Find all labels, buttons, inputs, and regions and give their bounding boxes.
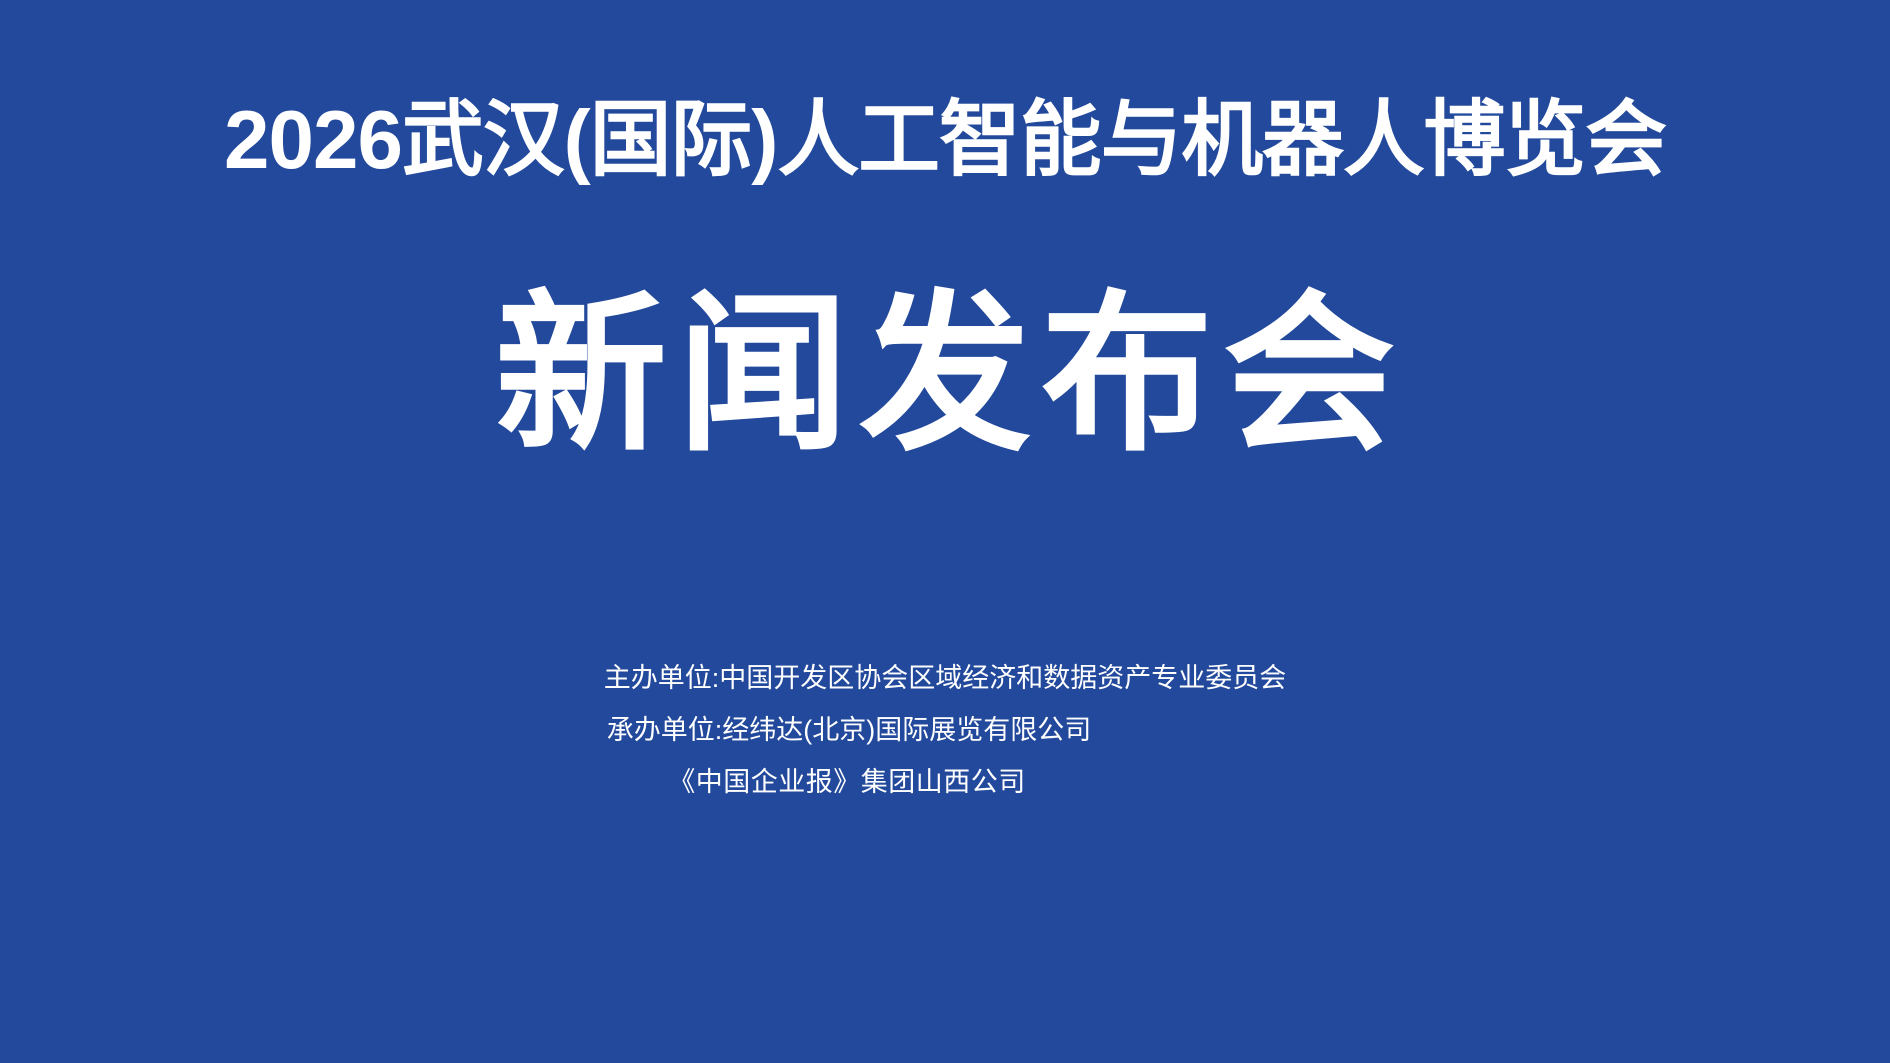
credits-block: 主办单位:中国开发区协会区域经济和数据资产专业委员会 承办单位:经纬达(北京)国… (0, 652, 1890, 808)
event-title: 2026武汉(国际)人工智能与机器人博览会 (14, 96, 1876, 184)
press-conference-poster: 2026武汉(国际)人工智能与机器人博览会 新闻发布会 主办单位:中国开发区协会… (0, 0, 1890, 1063)
page-title: 新闻发布会 (0, 272, 1890, 478)
co-organizer-line-secondary: 《中国企业报》集团山西公司 (0, 756, 1890, 808)
co-organizer-line: 承办单位:经纬达(北京)国际展览有限公司 (0, 704, 1890, 756)
organizer-line: 主办单位:中国开发区协会区域经济和数据资产专业委员会 (0, 652, 1890, 704)
